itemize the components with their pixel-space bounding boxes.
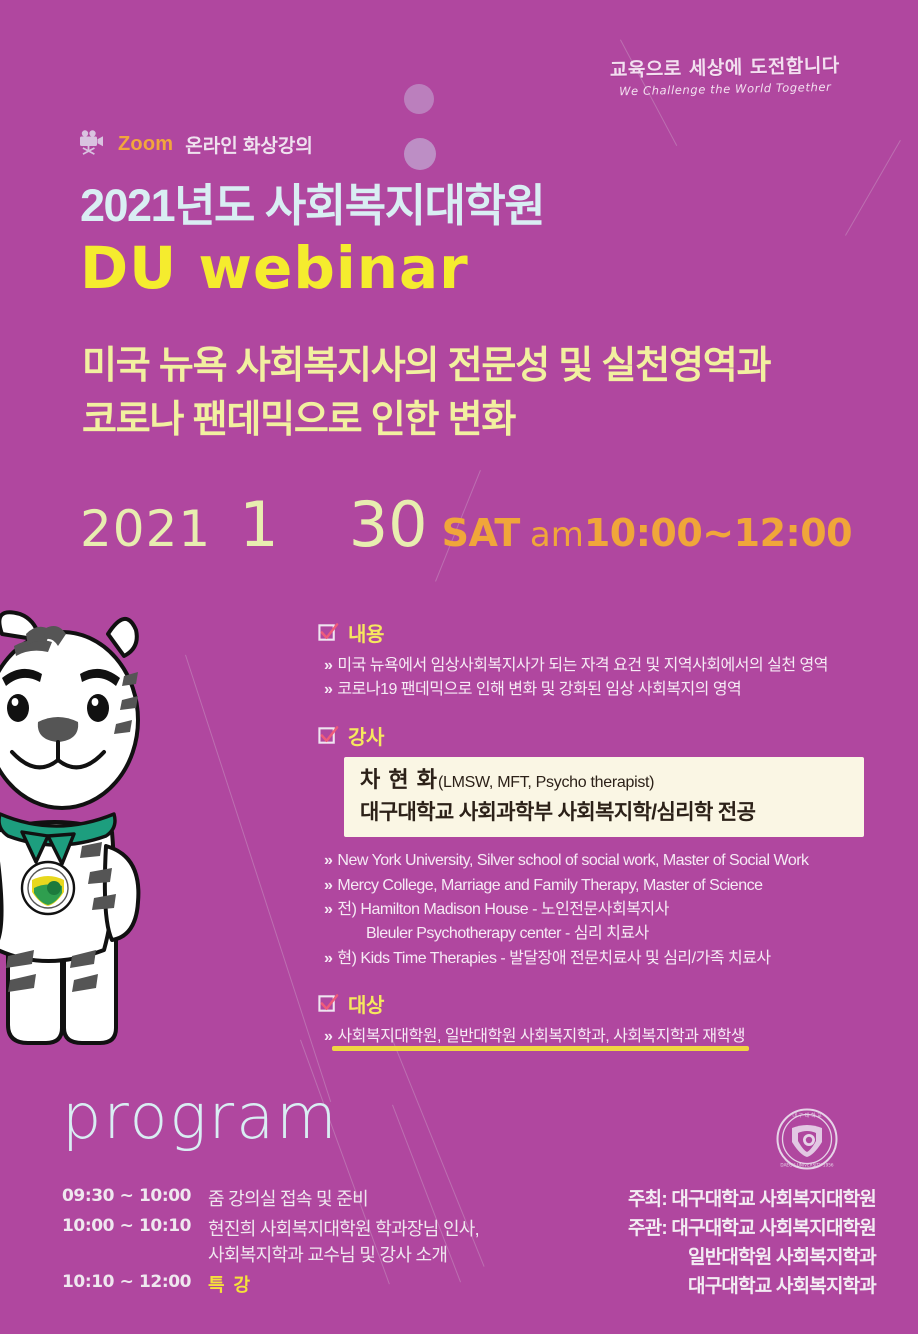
- decorative-dot: [404, 84, 434, 114]
- headline: 2021년도 사회복지대학원 DU webinar: [80, 182, 870, 302]
- info-sections: 내용 미국 뉴욕에서 임상사회복지사가 되는 자격 요건 및 지역사회에서의 실…: [318, 618, 883, 1067]
- section-item: 미국 뉴욕에서 임상사회복지사가 되는 자격 요건 및 지역사회에서의 실천 영…: [318, 654, 883, 678]
- instructor-cv-item: New York University, Silver school of so…: [318, 849, 883, 873]
- instructor-cv-item: Bleuler Psychotherapy center - 심리 치료사: [318, 922, 883, 946]
- schedule-time: 09:30 ~ 10:00: [62, 1186, 208, 1212]
- schedule-time: 10:10 ~ 12:00: [62, 1272, 208, 1298]
- university-slogan: 교육으로 세상에 도전합니다 We Challenge the World To…: [590, 55, 861, 99]
- video-camera-icon: [76, 128, 108, 160]
- time-am-label: am: [530, 515, 584, 555]
- instructor-affiliation: 대구대학교 사회과학부 사회복지학/심리학 전공: [360, 796, 850, 826]
- instructor-name: 차 현 화: [360, 767, 438, 792]
- decorative-dot: [404, 138, 436, 170]
- schedule-description-line-2: 사회복지학과 교수님 및 강사 소개: [208, 1245, 447, 1265]
- schedule-row: 10:10 ~ 12:00 특 강: [62, 1272, 532, 1298]
- headline-line-1: 2021년도 사회복지대학원: [80, 182, 870, 229]
- instructor-credentials: (LMSW, MFT, Psycho therapist): [438, 774, 654, 791]
- organizer-line: 일반대학원 사회복지학과: [628, 1244, 876, 1273]
- yellow-underline: [332, 1046, 749, 1051]
- zoom-brand-label: Zoom: [118, 133, 173, 156]
- schedule-row: 09:30 ~ 10:00 줌 강의실 접속 및 준비: [62, 1186, 532, 1212]
- subtitle-line-1: 미국 뉴욕 사회복지사의 전문성 및 실천영역과: [82, 340, 882, 394]
- date-day: 30: [349, 488, 428, 561]
- subtitle-line-2: 코로나 팬데믹으로 인한 변화: [82, 394, 882, 448]
- section-title: 대상: [348, 989, 384, 1018]
- daegu-university-seal: 대 구 대 학 교 DAEGU UNIVERSITY 1956: [776, 1108, 838, 1170]
- slogan-english: We Challenge the World Together: [590, 80, 860, 99]
- schedule-description: 현진희 사회복지대학원 학과장님 인사, 사회복지학과 교수님 및 강사 소개: [208, 1216, 479, 1268]
- checkbox-checked-icon: [318, 622, 339, 643]
- section-header: 강사: [318, 721, 883, 750]
- organizer-line: 주관: 대구대학교 사회복지대학원: [628, 1215, 876, 1244]
- instructor-card: 차 현 화(LMSW, MFT, Psycho therapist) 대구대학교…: [344, 757, 864, 838]
- date-weekday: SAT: [442, 511, 520, 555]
- organizer-line: 대구대학교 사회복지학과: [628, 1273, 876, 1302]
- headline-line-2: DU webinar: [80, 235, 870, 302]
- subtitle: 미국 뉴욕 사회복지사의 전문성 및 실천영역과 코로나 팬데믹으로 인한 변화: [82, 340, 882, 448]
- svg-text:대 구 대 학 교: 대 구 대 학 교: [792, 1112, 822, 1119]
- organizer-block: 주최: 대구대학교 사회복지대학원 주관: 대구대학교 사회복지대학원 일반대학…: [628, 1186, 876, 1302]
- white-tiger-mascot: [0, 600, 196, 1070]
- section-header: 내용: [318, 618, 883, 647]
- section-contents: 내용 미국 뉴욕에서 임상사회복지사가 되는 자격 요건 및 지역사회에서의 실…: [318, 618, 883, 703]
- poster: 교육으로 세상에 도전합니다 We Challenge the World To…: [0, 0, 918, 1334]
- schedule-time: 10:00 ~ 10:10: [62, 1216, 208, 1268]
- schedule-description: 특 강: [208, 1272, 252, 1298]
- program-title: program: [62, 1080, 339, 1153]
- schedule-row: 10:00 ~ 10:10 현진희 사회복지대학원 학과장님 인사, 사회복지학…: [62, 1216, 532, 1268]
- checkbox-checked-icon: [318, 725, 339, 746]
- zoom-badge: Zoom 온라인 화상강의: [76, 128, 313, 160]
- section-title: 강사: [348, 721, 384, 750]
- instructor-name-line: 차 현 화(LMSW, MFT, Psycho therapist): [360, 766, 850, 794]
- date-month: 1: [239, 488, 278, 561]
- schedule-description-line-1: 현진희 사회복지대학원 학과장님 인사,: [208, 1219, 479, 1239]
- time-range: 10:00~12:00: [584, 511, 852, 555]
- schedule-description: 줌 강의실 접속 및 준비: [208, 1186, 368, 1212]
- organizer-line: 주최: 대구대학교 사회복지대학원: [628, 1186, 876, 1215]
- event-date: 2021 1 30 SAT am 10:00~12:00: [80, 488, 852, 561]
- section-instructor: 강사 차 현 화(LMSW, MFT, Psycho therapist) 대구…: [318, 721, 883, 971]
- checkbox-checked-icon: [318, 993, 339, 1014]
- instructor-cv-item: Mercy College, Marriage and Family Thera…: [318, 874, 883, 898]
- slogan-korean: 교육으로 세상에 도전합니다: [590, 55, 860, 82]
- zoom-mode-label: 온라인 화상강의: [185, 131, 313, 158]
- decorative-diagonal-line: [185, 655, 331, 1102]
- section-item: 코로나19 팬데믹으로 인해 변화 및 강화된 임상 사회복지의 영역: [318, 678, 883, 702]
- instructor-cv-item: 전) Hamilton Madison House - 노인전문사회복지사: [318, 898, 883, 922]
- audience-item-wrap: 사회복지대학원, 일반대학원 사회복지학과, 사회복지학과 재학생: [318, 1025, 745, 1049]
- section-header: 대상: [318, 989, 883, 1018]
- svg-text:DAEGU UNIVERSITY 1956: DAEGU UNIVERSITY 1956: [780, 1163, 833, 1168]
- section-audience: 대상 사회복지대학원, 일반대학원 사회복지학과, 사회복지학과 재학생: [318, 989, 883, 1049]
- section-title: 내용: [348, 618, 384, 647]
- date-year: 2021: [80, 500, 211, 558]
- instructor-cv-item: 현) Kids Time Therapies - 발달장애 전문치료사 및 심리…: [318, 947, 883, 971]
- program-schedule: 09:30 ~ 10:00 줌 강의실 접속 및 준비 10:00 ~ 10:1…: [62, 1186, 532, 1302]
